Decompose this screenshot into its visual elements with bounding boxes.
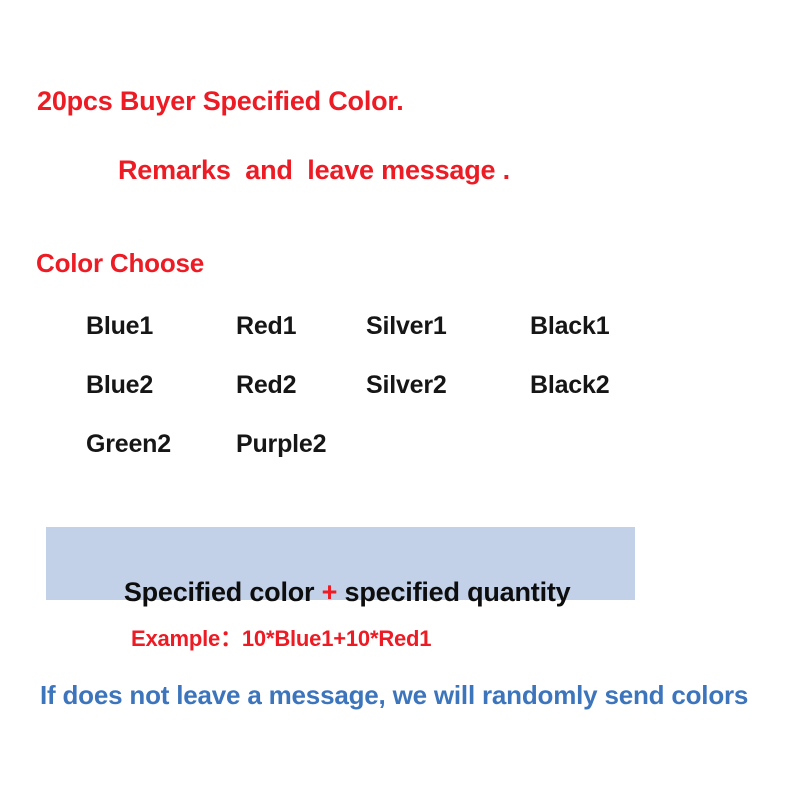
headline-primary: 20pcs Buyer Specified Color. [37, 86, 404, 117]
specified-color-label: Specified color [124, 577, 322, 607]
color-row: Blue2 Red2 Silver2 Black2 [86, 371, 686, 430]
plus-icon: + [322, 577, 338, 607]
color-option-green2[interactable]: Green2 [86, 430, 171, 459]
color-options-grid: Blue1 Red1 Silver1 Black1 Blue2 Red2 Sil… [86, 312, 686, 489]
color-option-silver1[interactable]: Silver1 [366, 312, 447, 341]
specified-order-banner: Specified color + specified quantity [46, 527, 635, 600]
color-choose-heading: Color Choose [36, 248, 204, 279]
random-color-notice: If does not leave a message, we will ran… [40, 678, 775, 713]
color-option-black2[interactable]: Black2 [530, 371, 609, 400]
color-option-red1[interactable]: Red1 [236, 312, 296, 341]
color-row: Blue1 Red1 Silver1 Black1 [86, 312, 686, 371]
color-option-purple2[interactable]: Purple2 [236, 430, 326, 459]
color-option-silver2[interactable]: Silver2 [366, 371, 447, 400]
color-option-red2[interactable]: Red2 [236, 371, 296, 400]
color-row: Green2 Purple2 [86, 430, 686, 489]
color-option-blue1[interactable]: Blue1 [86, 312, 153, 341]
color-option-blue2[interactable]: Blue2 [86, 371, 153, 400]
poster-canvas: 20pcs Buyer Specified Color. Remarks and… [0, 0, 800, 800]
headline-secondary: Remarks and leave message . [118, 155, 510, 186]
specified-quantity-label: specified quantity [337, 577, 570, 607]
example-line: Example：10*Blue1+10*Red1 [131, 621, 431, 653]
color-option-black1[interactable]: Black1 [530, 312, 609, 341]
